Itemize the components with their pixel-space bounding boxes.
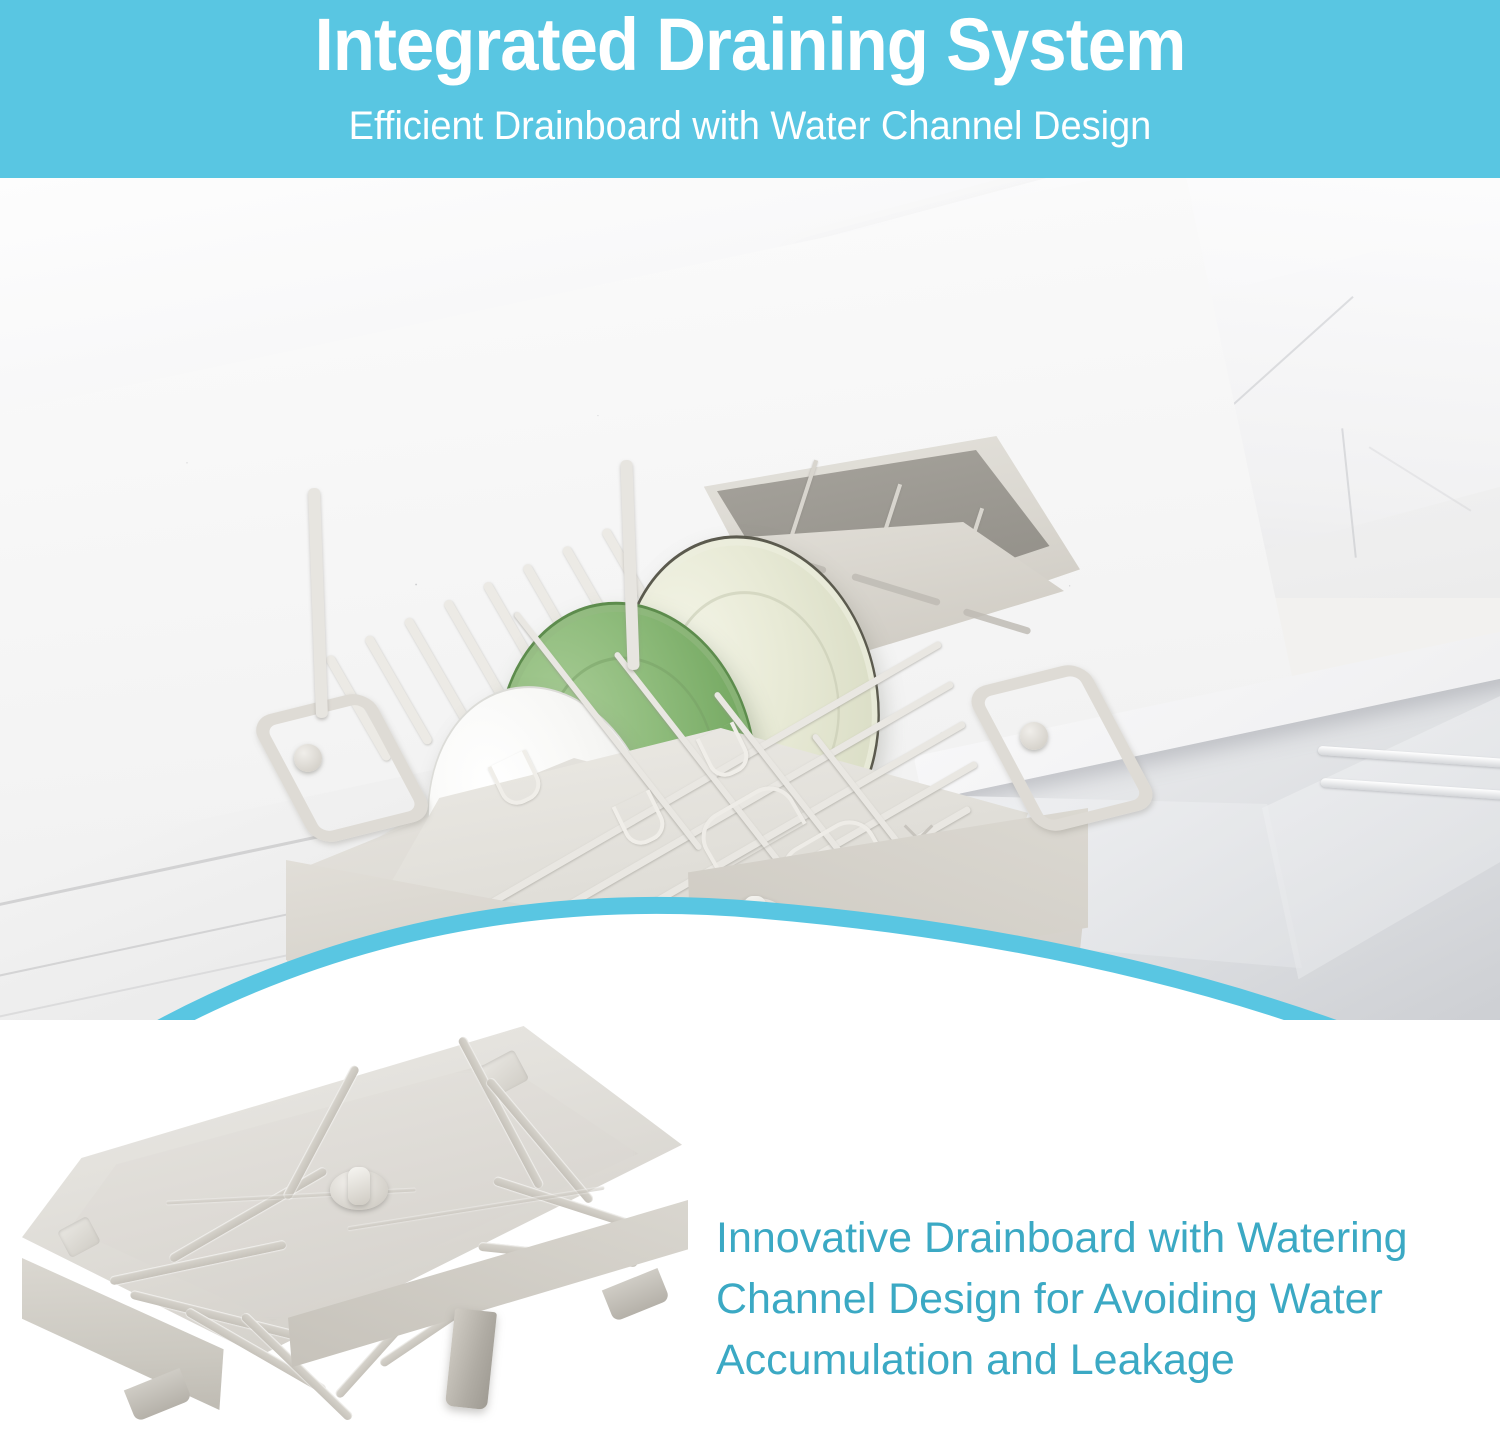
- banner-title: Integrated Draining System: [53, 6, 1448, 84]
- drainboard-drain-tab: [348, 1167, 370, 1205]
- rack-pivot-joint: [1020, 722, 1048, 750]
- drainboard-product-shot: [8, 1010, 708, 1450]
- feature-caption: Innovative Drainboard with Watering Chan…: [716, 1208, 1476, 1391]
- product-lifestyle-photo: [0, 178, 1500, 1108]
- rack-drain-tab: [744, 896, 766, 934]
- banner-subtitle: Efficient Drainboard with Water Channel …: [38, 104, 1463, 148]
- header-banner: Integrated Draining System Efficient Dra…: [0, 0, 1500, 178]
- rack-pivot-joint: [294, 744, 322, 772]
- product-feature-image: Integrated Draining System Efficient Dra…: [0, 0, 1500, 1451]
- drainboard-drain-spout: [445, 1308, 497, 1410]
- dish-drying-rack: [268, 428, 1098, 1108]
